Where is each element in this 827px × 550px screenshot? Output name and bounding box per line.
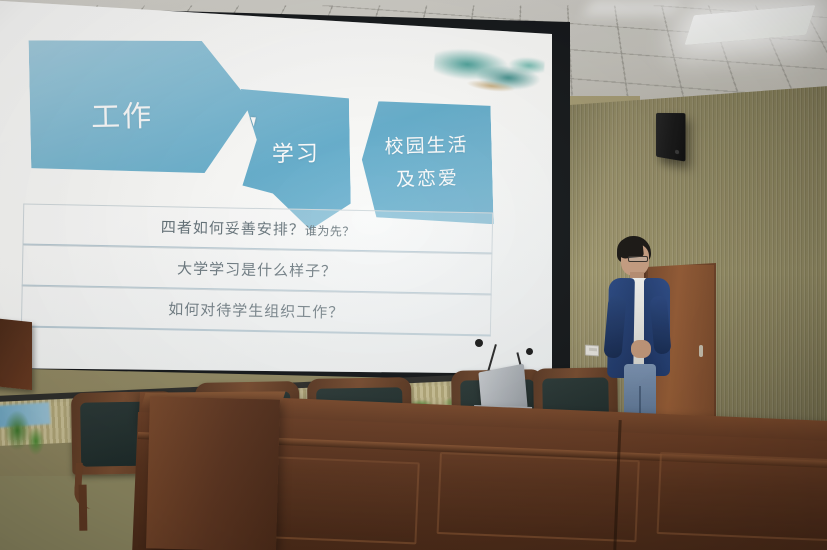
desk-panel bbox=[437, 452, 640, 542]
podium bbox=[146, 396, 280, 550]
desk-panel bbox=[657, 452, 827, 541]
front-desk bbox=[0, 0, 827, 550]
lecture-hall-photo: 工作 学习 校园生活 及恋爱 四者如何妥善安排？谁为先？ 大学学习是什么样子？ bbox=[0, 0, 827, 550]
